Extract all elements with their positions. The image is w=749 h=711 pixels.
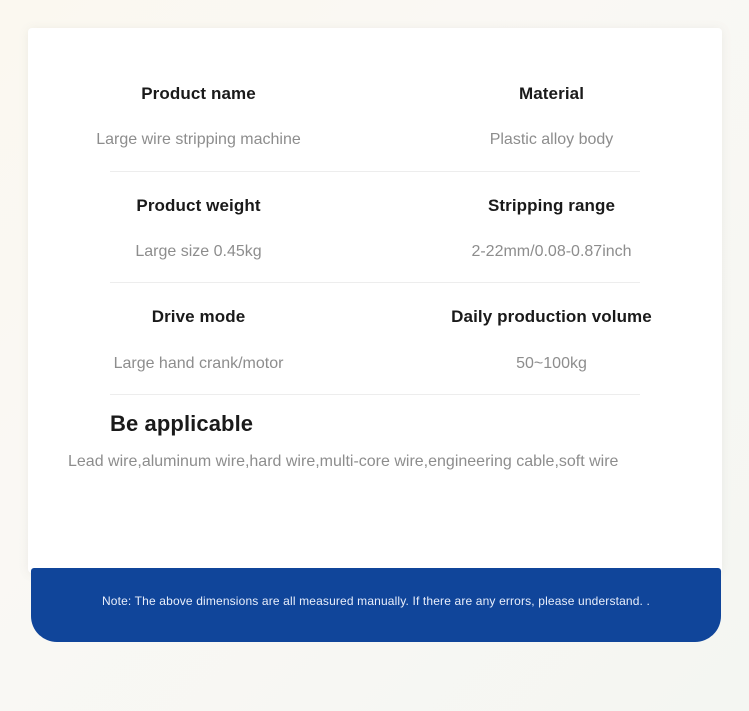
spec-cell-stripping-range: Stripping range 2-22mm/0.08-0.87inch xyxy=(375,196,722,262)
spec-cell-material: Material Plastic alloy body xyxy=(375,84,722,150)
spec-value: Large wire stripping machine xyxy=(28,130,369,149)
spec-value: 50~100kg xyxy=(381,354,722,373)
table-row: Drive mode Large hand crank/motor Daily … xyxy=(28,283,722,373)
spec-table: Product name Large wire stripping machin… xyxy=(28,28,722,471)
applicable-title: Be applicable xyxy=(110,411,722,437)
spec-label: Drive mode xyxy=(28,307,369,327)
spec-label: Product weight xyxy=(28,196,369,216)
spec-cell-daily-production-volume: Daily production volume 50~100kg xyxy=(375,307,722,373)
spec-value: 2-22mm/0.08-0.87inch xyxy=(381,242,722,261)
spec-value: Plastic alloy body xyxy=(381,130,722,149)
spec-label: Material xyxy=(381,84,722,104)
spec-cell-drive-mode: Drive mode Large hand crank/motor xyxy=(28,307,375,373)
applicable-list: Lead wire,aluminum wire,hard wire,multi-… xyxy=(68,453,722,471)
spec-label: Stripping range xyxy=(381,196,722,216)
note-text: Note: The above dimensions are all measu… xyxy=(102,594,650,608)
spec-label: Product name xyxy=(28,84,369,104)
applicable-section: Be applicable Lead wire,aluminum wire,ha… xyxy=(28,395,722,471)
table-row: Product name Large wire stripping machin… xyxy=(28,84,722,150)
spec-cell-product-weight: Product weight Large size 0.45kg xyxy=(28,196,375,262)
spec-label: Daily production volume xyxy=(381,307,722,327)
table-row: Product weight Large size 0.45kg Strippi… xyxy=(28,172,722,262)
spec-value: Large hand crank/motor xyxy=(28,354,369,373)
note-banner: Note: The above dimensions are all measu… xyxy=(31,568,721,642)
product-spec-card-page: Product name Large wire stripping machin… xyxy=(0,0,749,711)
spec-card: Product name Large wire stripping machin… xyxy=(28,28,722,573)
spec-value: Large size 0.45kg xyxy=(28,242,369,261)
spec-cell-product-name: Product name Large wire stripping machin… xyxy=(28,84,375,150)
